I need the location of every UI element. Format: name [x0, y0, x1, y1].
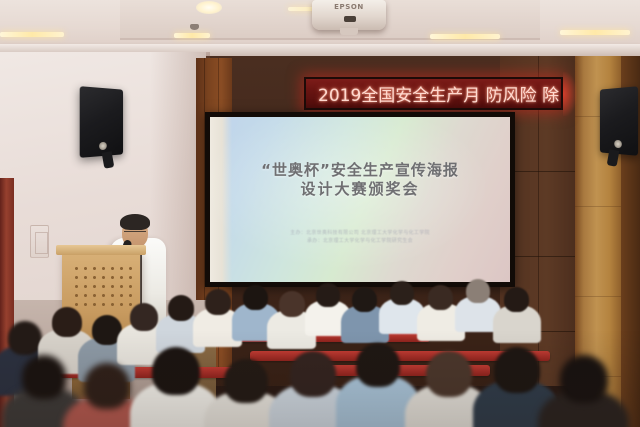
- speaker-driver-icon: [614, 140, 622, 148]
- audience-member-head: [8, 321, 42, 355]
- slide-title-line1: “世奥杯”安全生产宣传海报: [210, 161, 510, 180]
- ceiling-light-strip: [560, 30, 630, 35]
- audience-member-head: [290, 351, 336, 397]
- audience-member-head: [205, 289, 231, 315]
- projector: EPSON: [312, 0, 386, 30]
- led-banner-text: 2019全国安全生产月 防风险 除: [306, 81, 561, 106]
- audience-member-head: [356, 343, 400, 387]
- audience-member-head: [279, 291, 305, 317]
- slide-title: “世奥杯”安全生产宣传海报 设计大赛颁奖会: [210, 161, 510, 199]
- audience-member-head: [504, 287, 529, 312]
- projector-lens-icon: [344, 16, 356, 22]
- audience-member-head: [316, 283, 340, 307]
- slide-subtitle-line1: 主办：北京世奥科技有限公司 北京理工大学化学与化工学院: [210, 230, 510, 238]
- led-banner-glow: [563, 72, 577, 116]
- audience-member-head: [428, 285, 453, 310]
- wall-speaker-right: [600, 86, 638, 156]
- projector-mount: [340, 28, 358, 35]
- audience-member-head: [130, 303, 158, 331]
- ceiling-downlight: [196, 1, 222, 14]
- audience-member-head: [494, 347, 540, 393]
- audience-member-head: [168, 295, 194, 321]
- slide-title-line2: 设计大赛颁奖会: [210, 180, 510, 199]
- ceiling-light-strip: [174, 33, 210, 38]
- audience-member-head: [466, 279, 490, 303]
- audience-member-head: [560, 355, 608, 403]
- audience-member-head: [224, 359, 268, 403]
- audience: [0, 255, 640, 427]
- led-banner: 2019全国安全生产月 防风险 除: [304, 77, 563, 110]
- podium-top: [56, 245, 146, 255]
- audience-member-head: [84, 363, 130, 409]
- audience-member-head: [426, 351, 472, 397]
- audience-member-head: [152, 347, 200, 395]
- audience-member-head: [22, 355, 66, 399]
- ceiling-light-strip: [430, 34, 500, 39]
- wall-switch-plate[interactable]: [30, 225, 49, 258]
- wood-grain: [575, 206, 623, 207]
- auditorium-photo: EPSON 2019全国安全生产月 防风险 除: [0, 0, 640, 427]
- presenter-glasses-icon: [124, 231, 146, 236]
- audience-member-head: [243, 285, 268, 310]
- audience-member-head: [390, 281, 414, 305]
- slide-subtitle-line2: 承办：北京理工大学化学与化工学院研究生会: [210, 238, 510, 246]
- wall-speaker-left: [80, 86, 123, 158]
- presenter-hair: [120, 214, 150, 230]
- audience-member-head: [352, 287, 377, 312]
- sprinkler-head-icon: [190, 24, 199, 30]
- audience-member-head: [52, 307, 82, 337]
- projector-brand-label: EPSON: [312, 3, 386, 11]
- speaker-driver-icon: [99, 142, 107, 150]
- ceiling-light-strip: [0, 32, 64, 37]
- slide-subtitle: 主办：北京世奥科技有限公司 北京理工大学化学与化工学院 承办：北京理工大学化学与…: [210, 230, 510, 245]
